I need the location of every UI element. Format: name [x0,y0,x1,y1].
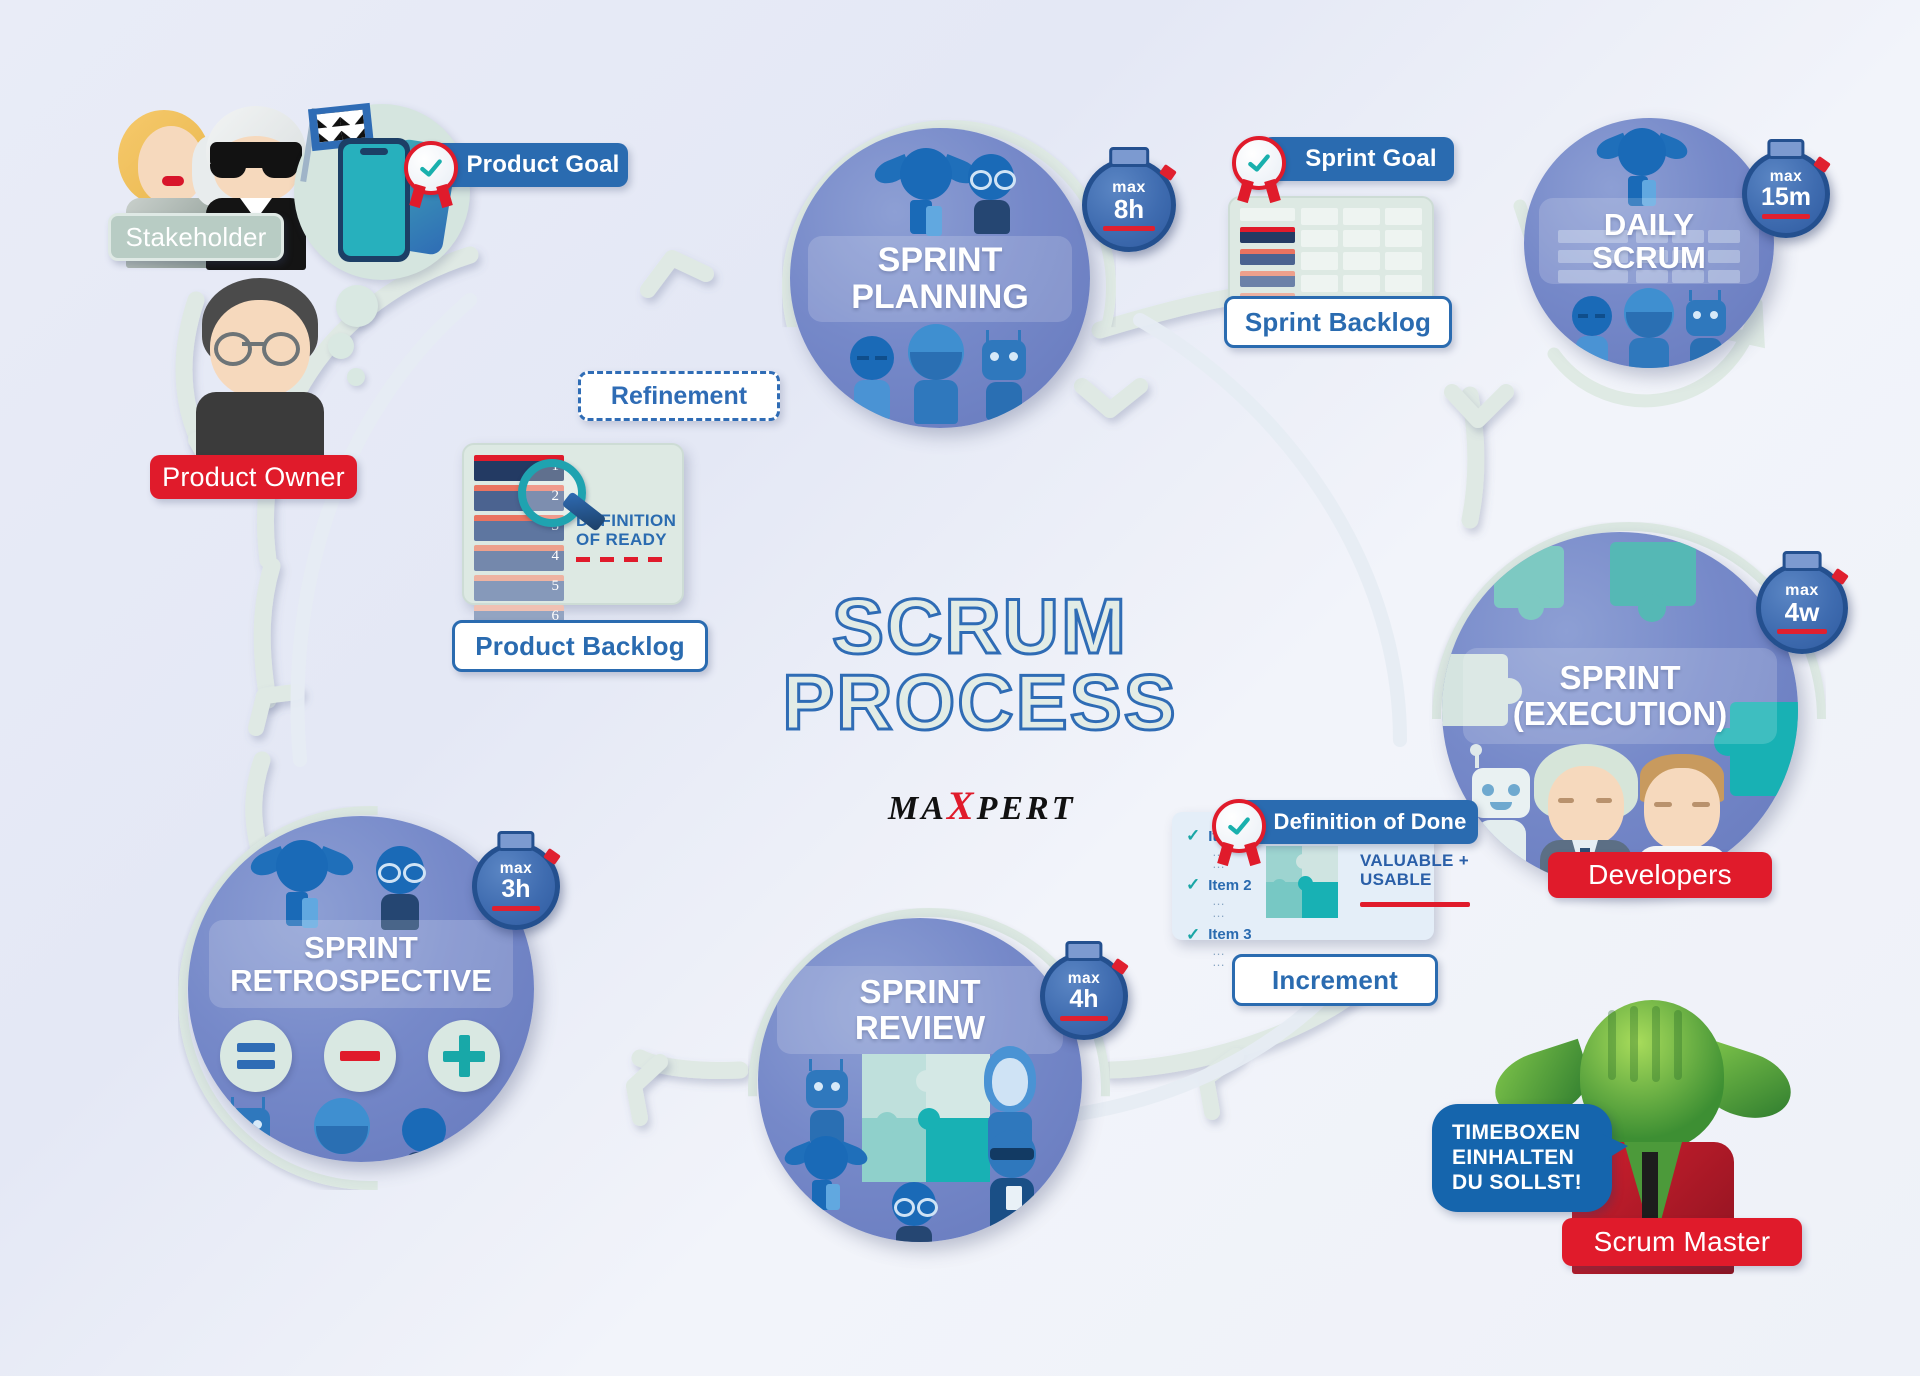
timer-knob [1109,147,1149,167]
role-label-product-owner: Product Owner [150,455,357,499]
timer-daily-scrum: max 15m [1742,150,1830,238]
scrum-process-infographic: Stakeholder Product Owner Product Goal [0,0,1920,1376]
card-label-product-backlog: Product Backlog [452,620,708,672]
backlog-row: 4 [474,545,564,571]
role-label-scrum-master-text: Scrum Master [1594,1226,1771,1258]
brand-logo: MAXPERT [888,782,1076,829]
timer-knob [1065,941,1102,961]
role-label-developers-text: Developers [1588,859,1732,891]
role-label-stakeholder: Stakeholder [108,213,284,261]
thought-dot-small [347,368,365,386]
role-label-product-owner-text: Product Owner [162,462,345,493]
timer-sprint-review: max 4h [1040,952,1128,1040]
page-title-line2: PROCESS [760,664,1200,740]
role-label-stakeholder-text: Stakeholder [126,222,267,253]
retro-symbol-keep-equals [220,1020,292,1092]
event-daily-scrum[interactable]: DAILY SCRUM [1524,118,1774,368]
timer-sprint-execution: max 4w [1756,562,1848,654]
timer-nub [1813,156,1831,173]
thought-dot-large [336,285,378,327]
definition-of-ready-divider [576,557,670,562]
checklist-item: ✓Item 3 [1186,925,1252,945]
timer-knob [1767,139,1804,159]
event-label-sprint-retrospective: SPRINT RETROSPECTIVE [209,920,514,1008]
event-sprint-execution[interactable]: SPRINT (EXECUTION) [1442,532,1798,888]
increment-value-text: VALUABLE + USABLE [1360,852,1469,889]
retro-symbol-more-plus [428,1020,500,1092]
timer-nub [1159,164,1177,181]
timer-knob [1783,551,1822,571]
timer-nub [543,848,561,865]
timer-sprint-planning: max 8h [1082,158,1176,252]
speech-bubble-scrum-master: TIMEBOXEN EINHALTEN DU SOLLST! [1432,1104,1612,1212]
timer-underline [1762,214,1810,219]
page-title-line1: SCRUM [760,588,1200,664]
timer-underline [1103,226,1155,231]
event-label-sprint-execution: SPRINT (EXECUTION) [1463,648,1776,744]
role-label-scrum-master: Scrum Master [1562,1218,1802,1266]
card-label-sprint-backlog-text: Sprint Backlog [1245,307,1431,338]
check-icon: ✓ [1186,826,1200,846]
definition-of-done-check-icon [1212,799,1266,853]
badge-definition-of-done: Definition of Done [1236,800,1478,844]
check-icon: ✓ [1186,875,1200,895]
event-label-sprint-review: SPRINT REVIEW [777,966,1062,1054]
check-icon: ✓ [1186,925,1200,945]
timer-nub [1831,568,1849,585]
checklist-item: ✓Item 2 [1186,875,1252,895]
badge-refinement-text: Refinement [611,382,747,411]
retro-symbol-less-minus [324,1020,396,1092]
backlog-row: 5 [474,575,564,601]
timer-knob [497,831,534,851]
page-title: SCRUM PROCESS [760,588,1200,741]
badge-refinement: Refinement [578,371,780,421]
increment-value-underline [1360,902,1470,907]
sprint-backlog-header-cell [1240,208,1295,221]
event-sprint-planning[interactable]: SPRINT PLANNING [790,128,1090,428]
card-label-increment-text: Increment [1272,965,1398,996]
timer-underline [1060,1016,1108,1021]
product-goal-check-icon [404,141,458,195]
badge-product-goal: Product Goal [428,143,628,187]
timer-sprint-retrospective: max 3h [472,842,560,930]
thought-dot-medium [328,333,354,359]
card-label-sprint-backlog: Sprint Backlog [1224,296,1452,348]
event-label-sprint-planning: SPRINT PLANNING [808,236,1072,322]
card-label-increment: Increment [1232,954,1438,1006]
badge-product-goal-text: Product Goal [466,151,619,179]
timer-underline [492,906,540,911]
increment-puzzle-icon [1266,846,1338,918]
event-label-daily-scrum: DAILY SCRUM [1539,198,1759,284]
timer-underline [1777,629,1828,634]
timer-nub [1111,958,1129,975]
badge-sprint-goal: Sprint Goal [1262,137,1454,181]
badge-definition-of-done-text: Definition of Done [1273,809,1466,835]
card-label-product-backlog-text: Product Backlog [475,631,685,662]
sprint-goal-check-icon [1232,136,1286,190]
event-sprint-review[interactable]: SPRINT REVIEW [758,918,1082,1242]
badge-sprint-goal-text: Sprint Goal [1305,145,1437,173]
role-label-developers: Developers [1548,852,1772,898]
review-puzzle-graphic [862,1054,990,1182]
